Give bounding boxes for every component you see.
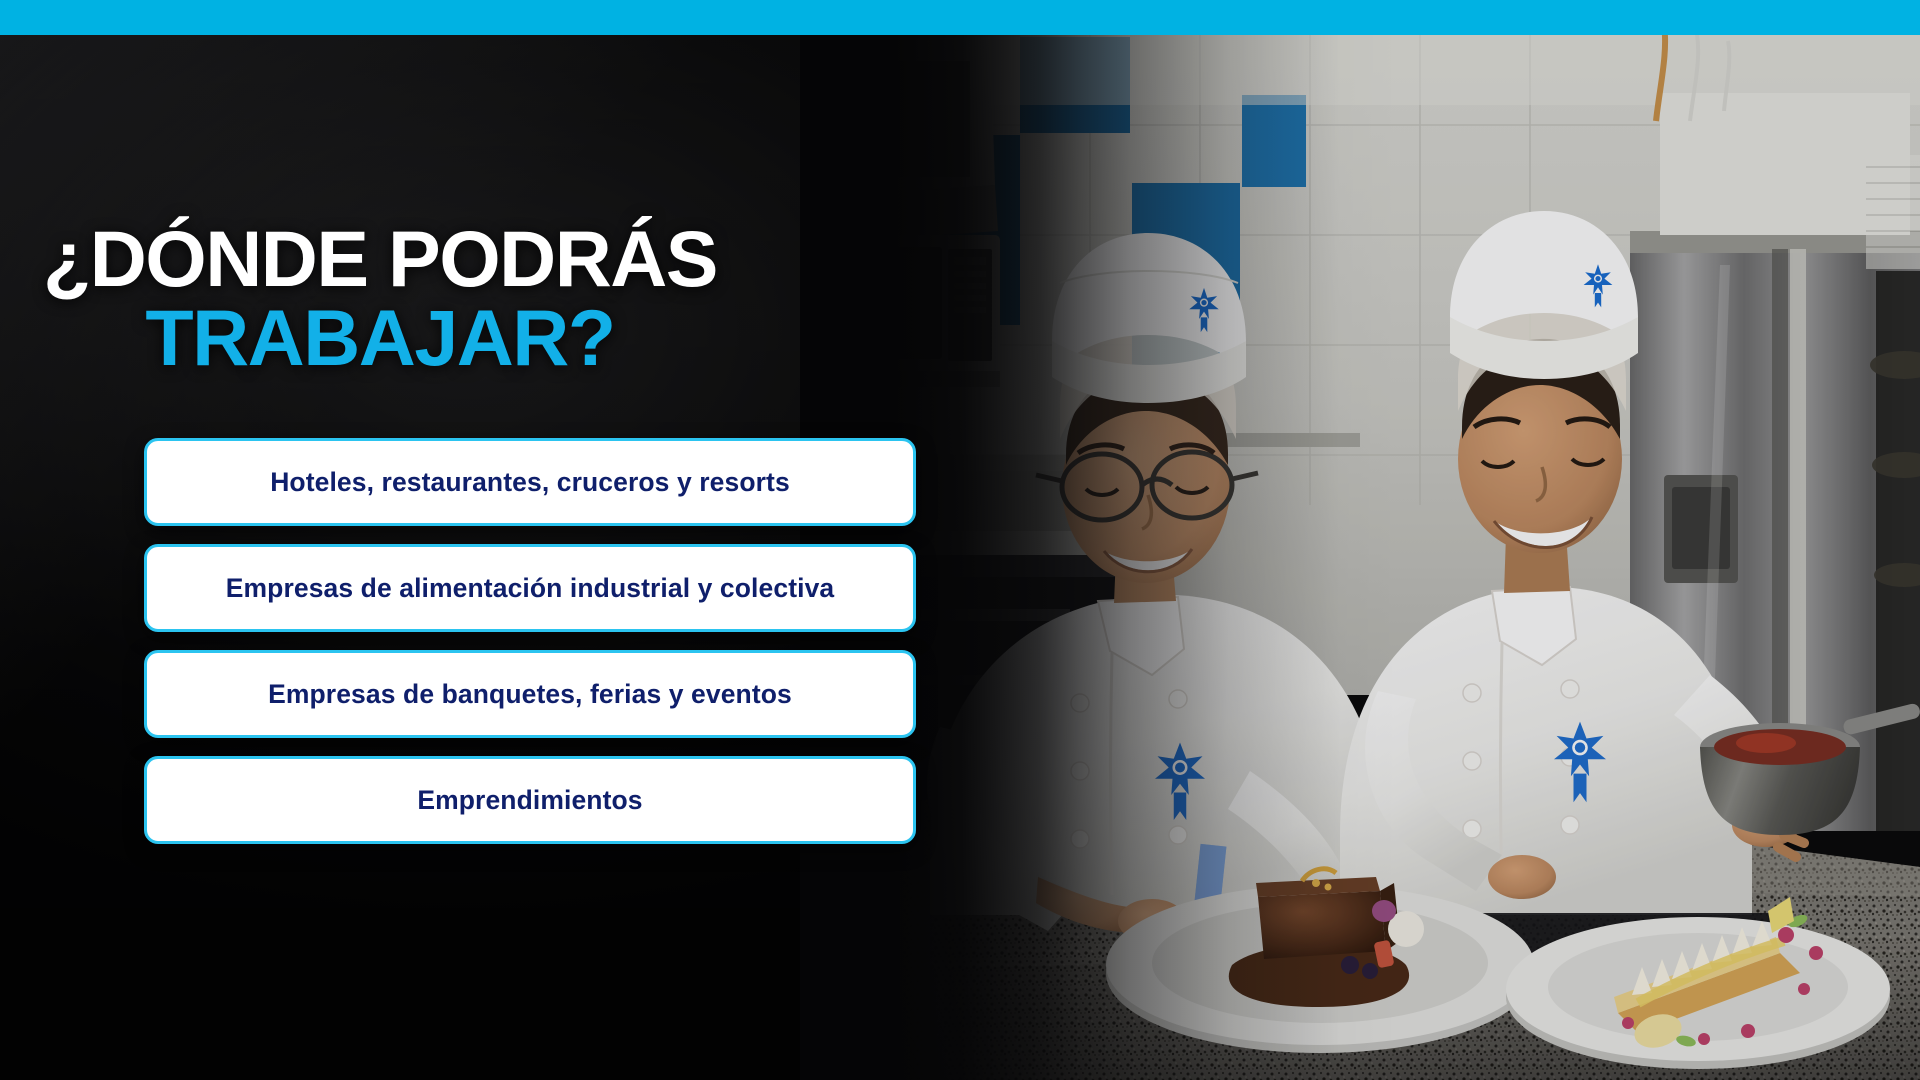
list-item-label: Empresas de alimentación industrial y co… (208, 573, 853, 604)
list-item[interactable]: Hoteles, restaurantes, cruceros y resort… (144, 438, 916, 526)
list-item[interactable]: Empresas de banquetes, ferias y eventos (144, 650, 916, 738)
headline-line-1: ¿DÓNDE PODRÁS (0, 222, 760, 295)
headline-line-2: TRABAJAR? (0, 301, 760, 374)
list-item-label: Emprendimientos (399, 785, 660, 816)
top-accent-bar (0, 0, 1920, 35)
list-item[interactable]: Empresas de alimentación industrial y co… (144, 544, 916, 632)
list-item[interactable]: Emprendimientos (144, 756, 916, 844)
slide-root: ¿DÓNDE PODRÁS TRABAJAR? Hoteles, restaur… (0, 0, 1920, 1080)
list-item-label: Hoteles, restaurantes, cruceros y resort… (252, 467, 808, 498)
list-item-label: Empresas de banquetes, ferias y eventos (250, 679, 810, 710)
page-title: ¿DÓNDE PODRÁS TRABAJAR? (0, 222, 800, 375)
kitchen-photo (780, 35, 1920, 1080)
workplace-options-list: Hoteles, restaurantes, cruceros y resort… (144, 438, 916, 862)
